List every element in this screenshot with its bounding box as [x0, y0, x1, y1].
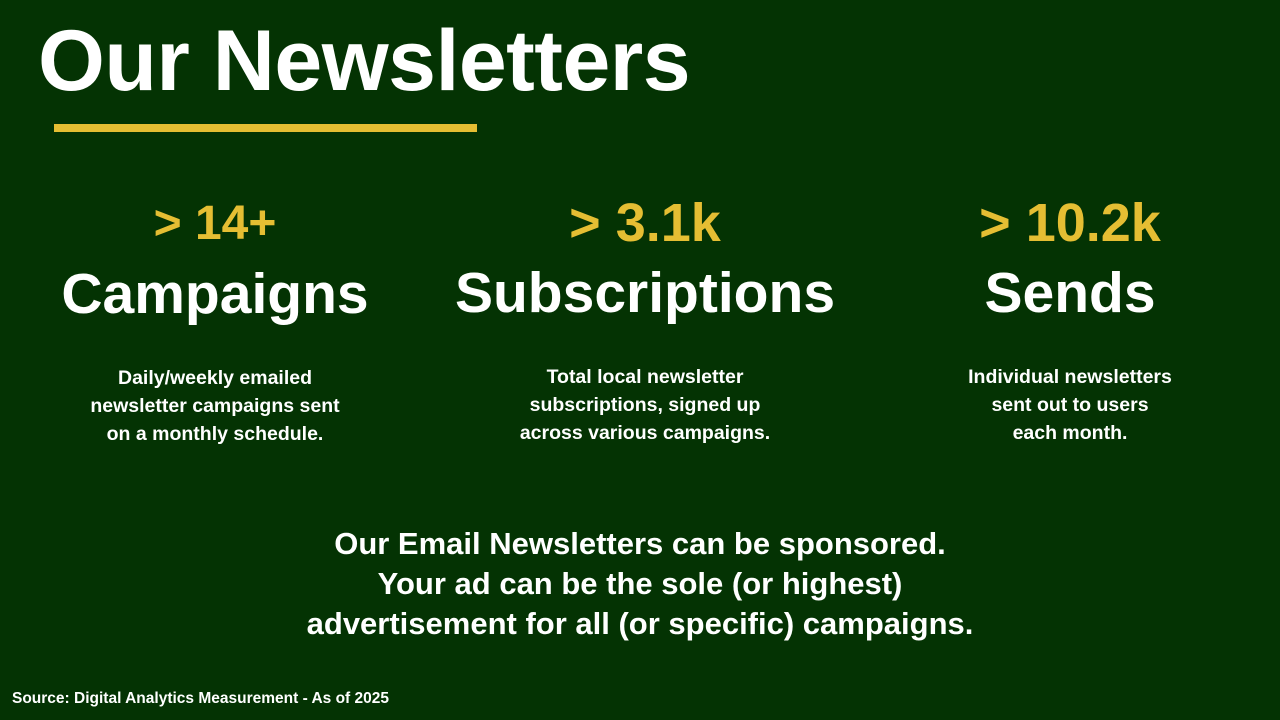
stat-description-line: on a monthly schedule.	[22, 420, 408, 448]
sponsor-message-line: Our Email Newsletters can be sponsored.	[0, 524, 1280, 564]
stat-card-sends: > 10.2k Sends Individual newsletters sen…	[860, 196, 1280, 447]
title-block: Our Newsletters	[38, 18, 1242, 132]
stat-description: Total local newsletter subscriptions, si…	[442, 363, 848, 447]
stat-description-line: Daily/weekly emailed	[22, 364, 408, 392]
stat-description-line: sent out to users	[890, 391, 1250, 419]
stat-card-subscriptions: > 3.1k Subscriptions Total local newslet…	[430, 196, 860, 447]
stat-card-campaigns: > 14+ Campaigns Daily/weekly emailed new…	[0, 196, 430, 448]
page-title: Our Newsletters	[38, 18, 1242, 104]
stat-label: Subscriptions	[442, 265, 848, 322]
stat-description-line: Individual newsletters	[890, 363, 1250, 391]
stat-description-line: each month.	[890, 419, 1250, 447]
sponsor-message-line: advertisement for all (or specific) camp…	[0, 604, 1280, 644]
stat-description-line: newsletter campaigns sent	[22, 392, 408, 420]
stats-row: > 14+ Campaigns Daily/weekly emailed new…	[0, 196, 1280, 448]
stat-label: Campaigns	[22, 266, 408, 323]
stat-description-line: across various campaigns.	[442, 419, 848, 447]
stat-label: Sends	[890, 265, 1250, 322]
stat-value: > 14+	[22, 200, 408, 248]
stat-value: > 10.2k	[890, 196, 1250, 250]
sponsor-message-line: Your ad can be the sole (or highest)	[0, 564, 1280, 604]
slide-canvas: Our Newsletters > 14+ Campaigns Daily/we…	[0, 0, 1280, 720]
title-underline-rule	[54, 124, 477, 132]
stat-description: Daily/weekly emailed newsletter campaign…	[22, 364, 408, 448]
stat-description: Individual newsletters sent out to users…	[890, 363, 1250, 447]
source-footnote: Source: Digital Analytics Measurement - …	[12, 690, 389, 707]
stat-description-line: subscriptions, signed up	[442, 391, 848, 419]
stat-value: > 3.1k	[442, 196, 848, 250]
sponsor-message: Our Email Newsletters can be sponsored. …	[0, 524, 1280, 644]
stat-description-line: Total local newsletter	[442, 363, 848, 391]
